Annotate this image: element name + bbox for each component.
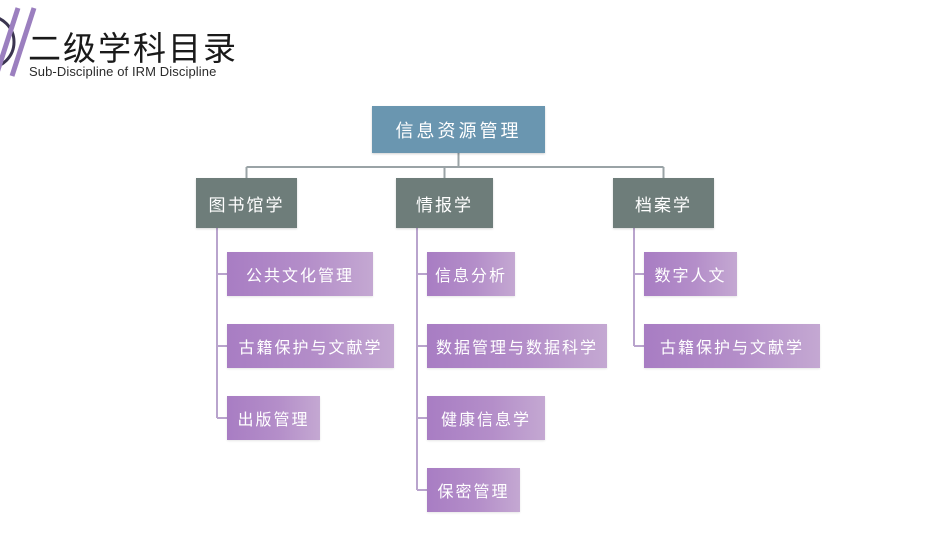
branch-node-1: 图书馆学 (196, 178, 297, 228)
sub-discipline-tree-diagram: 图书馆学公共文化管理古籍保护与文献学出版管理情报学信息分析数据管理与数据科学健康… (0, 0, 945, 547)
root-node: 信息资源管理 (372, 106, 545, 153)
leaf-node-2-3: 健康信息学 (427, 396, 545, 440)
leaf-node-1-1: 公共文化管理 (227, 252, 373, 296)
leaf-node-2-2: 数据管理与数据科学 (427, 324, 607, 368)
leaf-node-2-4: 保密管理 (427, 468, 520, 512)
leaf-node-2-1: 信息分析 (427, 252, 515, 296)
leaf-node-3-1: 数字人文 (644, 252, 737, 296)
leaf-node-1-3: 出版管理 (227, 396, 320, 440)
leaf-node-1-2: 古籍保护与文献学 (227, 324, 394, 368)
branch-node-3: 档案学 (613, 178, 714, 228)
branch-node-2: 情报学 (396, 178, 493, 228)
leaf-node-3-2: 古籍保护与文献学 (644, 324, 820, 368)
